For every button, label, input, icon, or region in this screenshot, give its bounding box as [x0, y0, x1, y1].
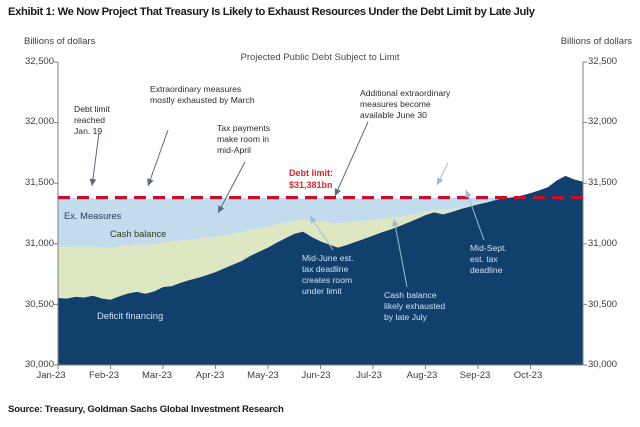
ex-measures-label: Ex. Measures — [64, 210, 121, 221]
annotation-line: Cash balance — [384, 290, 445, 301]
annotation-line: Extraordinary measures — [150, 84, 255, 95]
y-tick-left-5: 30,000 — [6, 359, 54, 370]
debt-limit-value-label: Debt limit: $31,381bn — [289, 168, 333, 191]
annotation-line: likely exhausted — [384, 301, 445, 312]
annotation-line: creates room — [302, 275, 354, 286]
y-tick-right-4: 30,500 — [588, 299, 636, 310]
annotation-mid-sept-tax-deadline: Mid-Sept. est. tax deadline — [470, 243, 507, 276]
annotation-line: Mid-Sept. — [470, 243, 507, 254]
annotation-line: mostly exhausted by March — [150, 95, 255, 106]
x-tick-may-23: May-23 — [235, 370, 291, 381]
annotation-leader-arrow — [437, 163, 448, 185]
annotation-line: Debt limit — [74, 104, 110, 115]
y-tick-right-3: 31,000 — [588, 238, 636, 249]
y-tick-right-1: 32,000 — [588, 116, 636, 127]
annotation-tax-payments-mid-april: Tax payments make room in mid-April — [217, 123, 270, 156]
annotation-line: Mid-June est. — [302, 253, 354, 264]
y-tick-right-5: 30,000 — [588, 359, 636, 370]
y-tick-left-4: 30,500 — [6, 299, 54, 310]
y-tick-left-0: 32,500 — [6, 56, 54, 67]
annotation-line: measures become — [360, 99, 450, 110]
annotation-extraordinary-measures-exhausted: Extraordinary measures mostly exhausted … — [150, 84, 255, 106]
annotation-additional-measures-june-30: Additional extraordinary measures become… — [360, 88, 450, 121]
annotation-line: make room in — [217, 134, 270, 145]
x-tick-feb-23: Feb-23 — [76, 370, 132, 381]
y-tick-right-0: 32,500 — [588, 56, 636, 67]
x-tick-mar-23: Mar-23 — [129, 370, 185, 381]
annotation-line: est. tax — [470, 254, 507, 265]
x-tick-aug-23: Aug-23 — [394, 370, 450, 381]
y-tick-left-2: 31,500 — [6, 177, 54, 188]
debt-limit-label-line1: Debt limit: — [289, 168, 333, 180]
annotation-line: by late July — [384, 312, 445, 323]
annotation-leader-arrow — [147, 130, 168, 186]
annotation-line: Additional extraordinary — [360, 88, 450, 99]
annotation-cash-balance-exhausted: Cash balance likely exhausted by late Ju… — [384, 290, 445, 323]
annotation-leader-arrow — [90, 133, 99, 186]
annotation-line: mid-April — [217, 145, 270, 156]
x-tick-jun-23: Jun-23 — [288, 370, 344, 381]
x-tick-jul-23: Jul-23 — [341, 370, 397, 381]
annotation-line: Tax payments — [217, 123, 270, 134]
annotation-line: reached — [74, 115, 110, 126]
x-tick-sep-23: Sep-23 — [447, 370, 503, 381]
debt-limit-label-line2: $31,381bn — [289, 180, 333, 192]
annotation-debt-limit-reached: Debt limit reached Jan. 19 — [74, 104, 110, 137]
y-tick-right-2: 31,500 — [588, 177, 636, 188]
x-tick-apr-23: Apr-23 — [182, 370, 238, 381]
source-note: Source: Treasury, Goldman Sachs Global I… — [8, 404, 284, 415]
annotation-line: available June 30 — [360, 110, 450, 121]
deficit-financing-label: Deficit financing — [97, 310, 163, 321]
annotation-line: deadline — [470, 265, 507, 276]
x-tick-jan-23: Jan-23 — [23, 370, 79, 381]
annotation-mid-june-tax-deadline: Mid-June est. tax deadline creates room … — [302, 253, 354, 297]
y-tick-left-3: 31,000 — [6, 238, 54, 249]
annotation-leader-arrow — [335, 122, 368, 196]
cash-balance-label: Cash balance — [110, 229, 166, 240]
annotation-line: under limit — [302, 286, 354, 297]
y-tick-left-1: 32,000 — [6, 116, 54, 127]
annotation-line: tax deadline — [302, 264, 354, 275]
x-tick-oct-23: Oct-23 — [500, 370, 556, 381]
annotation-line: Jan. 19 — [74, 126, 110, 137]
